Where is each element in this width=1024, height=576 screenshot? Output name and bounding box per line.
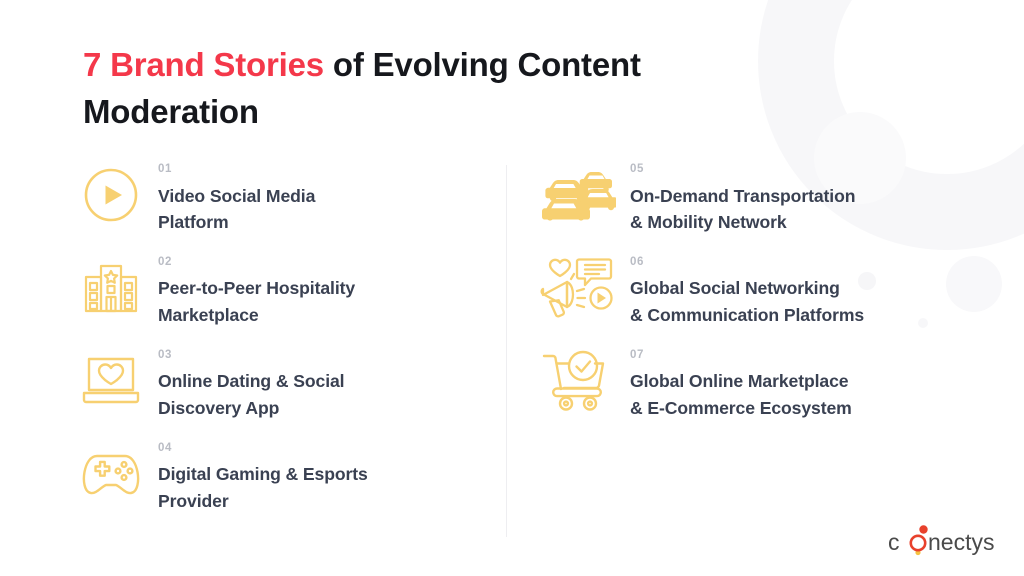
list-item-03-number: 03 <box>158 350 344 362</box>
list-item-06-label: Global Social Networking & Communication… <box>630 275 864 328</box>
gamepad-icon <box>78 441 144 507</box>
list-item-07-text: 07 Global Online Marketplace & E-Commerc… <box>630 348 852 422</box>
list-item-05-number: 05 <box>630 164 855 176</box>
list-item-06-text: 06 Global Social Networking & Communicat… <box>630 255 864 329</box>
megaphone-social-icon <box>538 255 618 321</box>
svg-text:nectys: nectys <box>928 529 994 555</box>
hotel-building-icon <box>78 255 144 321</box>
list-item-03-label: Online Dating & Social Discovery App <box>158 368 344 421</box>
list-item-04-number: 04 <box>158 443 368 455</box>
left-column: 01 Video Social Media Platform <box>78 162 498 534</box>
list-item-03-text: 03 Online Dating & Social Discovery App <box>158 348 344 422</box>
list-item-06[interactable]: 06 Global Social Networking & Communicat… <box>538 255 998 329</box>
cars-traffic-icon <box>538 162 618 228</box>
page-title-accent: 7 Brand Stories <box>83 46 324 83</box>
svg-text:c: c <box>888 529 900 555</box>
conectys-logo[interactable]: c nectys <box>888 524 1000 558</box>
list-item-02-label: Peer-to-Peer Hospitality Marketplace <box>158 275 355 328</box>
list-item-05-label: On-Demand Transportation & Mobility Netw… <box>630 183 855 236</box>
list-item-02-number: 02 <box>158 257 355 269</box>
list-item-07-number: 07 <box>630 350 852 362</box>
page-title: 7 Brand Stories of Evolving Content Mode… <box>83 42 783 136</box>
list-item-01-number: 01 <box>158 164 315 176</box>
list-item-04[interactable]: 04 Digital Gaming & Esports Provider <box>78 441 498 515</box>
list-item-02[interactable]: 02 Peer-to-Peer Hospitality Marketplace <box>78 255 498 329</box>
list-item-07-label: Global Online Marketplace & E-Commerce E… <box>630 368 852 421</box>
laptop-heart-icon <box>78 348 144 414</box>
list-item-05-text: 05 On-Demand Transportation & Mobility N… <box>630 162 855 236</box>
list-item-02-text: 02 Peer-to-Peer Hospitality Marketplace <box>158 255 355 329</box>
list-item-01-text: 01 Video Social Media Platform <box>158 162 315 236</box>
slide-root: 7 Brand Stories of Evolving Content Mode… <box>0 0 1024 576</box>
list-item-04-label: Digital Gaming & Esports Provider <box>158 461 368 514</box>
list-item-01[interactable]: 01 Video Social Media Platform <box>78 162 498 236</box>
column-divider <box>506 165 507 537</box>
list-item-03[interactable]: 03 Online Dating & Social Discovery App <box>78 348 498 422</box>
list-item-04-text: 04 Digital Gaming & Esports Provider <box>158 441 368 515</box>
list-item-07[interactable]: 07 Global Online Marketplace & E-Commerc… <box>538 348 998 422</box>
right-column: 05 On-Demand Transportation & Mobility N… <box>538 162 998 441</box>
list-item-01-label: Video Social Media Platform <box>158 183 315 236</box>
list-item-05[interactable]: 05 On-Demand Transportation & Mobility N… <box>538 162 998 236</box>
shopping-cart-check-icon <box>538 348 618 414</box>
list-item-06-number: 06 <box>630 257 864 269</box>
play-circle-icon <box>78 162 144 228</box>
